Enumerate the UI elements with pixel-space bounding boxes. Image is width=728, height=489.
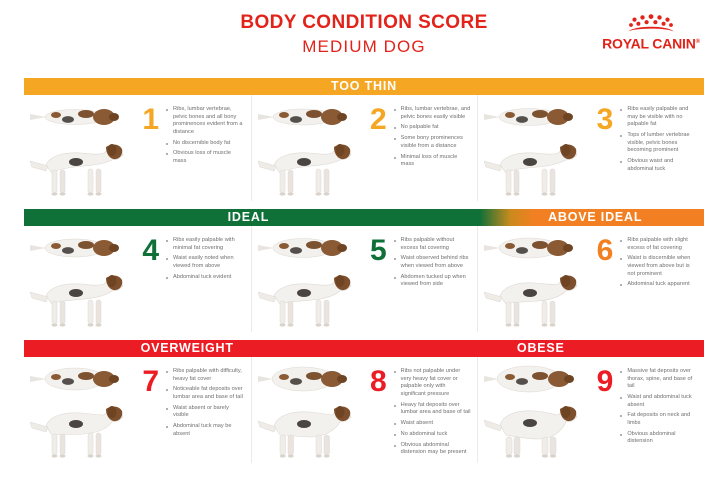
score-number-6: 6: [586, 230, 612, 332]
bullet: Obvious waist and abdominal tuck: [620, 158, 698, 173]
dog-top-view-icon: [28, 363, 128, 395]
bullet: Ribs, lumbar vertebrae, and pelvic bones…: [394, 106, 472, 121]
score-cell-4[interactable]: 4 Ribs easily palpable with minimal fat …: [24, 226, 251, 332]
spacer: [0, 332, 728, 340]
bullet: Obvious abdominal distension: [620, 431, 698, 446]
score-number-8: 8: [360, 361, 386, 463]
score-cell-8[interactable]: 8 Ribs not palpable under very heavy fat…: [251, 357, 478, 463]
poster-header: BODY CONDITION SCORE MEDIUM DOG ROYAL CA…: [0, 0, 728, 78]
dog-illustration-6: [478, 230, 586, 332]
section-bar-overweight: OVERWEIGHT OBESE: [24, 340, 704, 357]
dog-illustration-8: [252, 361, 360, 463]
body-condition-score-poster: BODY CONDITION SCORE MEDIUM DOG ROYAL CA…: [0, 0, 728, 489]
dog-illustration-4: [24, 230, 132, 332]
dog-side-view-icon: [26, 266, 130, 332]
score-cell-9[interactable]: 9 Massive fat deposits over thorax, spin…: [477, 357, 704, 463]
row-ideal: 4 Ribs easily palpable with minimal fat …: [24, 226, 704, 332]
score-bullets-8: Ribs not palpable under very heavy fat c…: [386, 361, 478, 463]
dog-top-view-icon: [28, 232, 128, 264]
bullet: Obvious abdominal distension may be pres…: [394, 442, 472, 457]
bullet: No discernible body fat: [166, 140, 245, 148]
score-cell-6[interactable]: 6 Ribs palpable with slight excess of fa…: [477, 226, 704, 332]
dog-top-view-icon: [482, 363, 582, 395]
score-cell-1[interactable]: 1 Ribs, lumbar vertebrae, pelvic bones a…: [24, 95, 251, 201]
dog-illustration-5: [252, 230, 360, 332]
score-number-2: 2: [360, 99, 386, 201]
bullet: Some bony prominences visible from a dis…: [394, 135, 472, 150]
dog-top-view-icon: [256, 101, 356, 133]
dog-side-view-icon: [254, 266, 358, 332]
bullet: No palpable fat: [394, 124, 472, 132]
score-cell-3[interactable]: 3 Ribs easily palpable and may be visibl…: [477, 95, 704, 201]
dog-illustration-3: [478, 99, 586, 201]
dog-side-view-icon: [480, 135, 584, 201]
bullet: Ribs palpable without excess fat coverin…: [394, 237, 472, 252]
bullet: No abdominal tuck: [394, 431, 472, 439]
dog-side-view-icon: [480, 266, 584, 332]
dog-side-view-icon: [480, 397, 584, 463]
bullet: Minimal loss of muscle mass: [394, 154, 472, 169]
score-cell-2[interactable]: 2 Ribs, lumbar vertebrae, and pelvic bon…: [251, 95, 478, 201]
band-too-thin: TOO THIN: [24, 78, 704, 95]
bullet: Tops of lumber vertebrae visible, pelvic…: [620, 132, 698, 155]
royal-canin-logo: ROYAL CANIN®: [592, 14, 710, 52]
dog-top-view-icon: [256, 363, 356, 395]
section-label-above-ideal: ABOVE IDEAL: [486, 209, 704, 226]
score-cell-7[interactable]: 7 Ribs palpable with difficulty, heavy f…: [24, 357, 251, 463]
bullet: Ribs palpable with slight excess of fat …: [620, 237, 698, 252]
score-number-7: 7: [132, 361, 158, 463]
score-bullets-9: Massive fat deposits over thorax, spine,…: [612, 361, 704, 463]
dog-illustration-1: [24, 99, 132, 201]
dog-side-view-icon: [254, 135, 358, 201]
bullet: Massive fat deposits over thorax, spine,…: [620, 368, 698, 391]
section-label-too-thin: TOO THIN: [24, 78, 704, 95]
dog-illustration-7: [24, 361, 132, 463]
bullet: Waist and abdominal tuck absent: [620, 394, 698, 409]
score-bullets-4: Ribs easily palpable with minimal fat co…: [158, 230, 251, 332]
dog-top-view-icon: [482, 232, 582, 264]
score-bullets-7: Ribs palpable with difficulty, heavy fat…: [158, 361, 251, 463]
band-ideal: IDEAL ABOVE IDEAL: [24, 209, 704, 226]
score-bullets-3: Ribs easily palpable and may be visible …: [612, 99, 704, 201]
brand-name: ROYAL CANIN®: [592, 35, 710, 52]
brand-trademark: ®: [696, 39, 700, 45]
score-cell-5[interactable]: 5 Ribs palpable without excess fat cover…: [251, 226, 478, 332]
score-bullets-6: Ribs palpable with slight excess of fat …: [612, 230, 704, 332]
dog-top-view-icon: [256, 232, 356, 264]
bullet: Fat deposits on neck and limbs: [620, 412, 698, 427]
score-number-5: 5: [360, 230, 386, 332]
dog-side-view-icon: [26, 397, 130, 463]
bullet: Ribs not palpable under very heavy fat c…: [394, 368, 472, 398]
dog-side-view-icon: [254, 397, 358, 463]
section-label-ideal: IDEAL: [24, 209, 473, 226]
bullet: Abdominal tuck apparent: [620, 281, 698, 289]
bullet: Abdomen tucked up when viewed from side: [394, 274, 472, 289]
bullet: Waist absent or barely visible: [166, 405, 245, 420]
bullet: Waist is discernible when viewed from ab…: [620, 255, 698, 278]
score-number-1: 1: [132, 99, 158, 201]
bullet: Abdominal tuck evident: [166, 274, 245, 282]
bullet: Noticeable fat deposits over lumbar area…: [166, 386, 245, 401]
bullet: Obvious loss of muscle mass: [166, 150, 245, 165]
score-number-3: 3: [586, 99, 612, 201]
score-number-9: 9: [586, 361, 612, 463]
dog-illustration-9: [478, 361, 586, 463]
dog-top-view-icon: [28, 101, 128, 133]
score-bullets-1: Ribs, lumbar vertebrae, pelvic bones and…: [158, 99, 251, 201]
score-number-4: 4: [132, 230, 158, 332]
dog-side-view-icon: [26, 135, 130, 201]
section-bar-too-thin: TOO THIN: [24, 78, 704, 95]
bullet: Ribs easily palpable with minimal fat co…: [166, 237, 245, 252]
spacer: [0, 201, 728, 209]
bullet: Waist absent: [394, 420, 472, 428]
section-label-obese: OBESE: [378, 340, 704, 357]
section-bar-ideal: IDEAL ABOVE IDEAL: [24, 209, 704, 226]
score-bullets-5: Ribs palpable without excess fat coverin…: [386, 230, 478, 332]
bullet: Heavy fat deposits over lumbar area and …: [394, 402, 472, 417]
score-bullets-2: Ribs, lumbar vertebrae, and pelvic bones…: [386, 99, 478, 201]
dog-top-view-icon: [482, 101, 582, 133]
bullet: Ribs, lumbar vertebrae, pelvic bones and…: [166, 106, 245, 136]
bullet: Waist observed behind ribs when viewed f…: [394, 255, 472, 270]
dog-illustration-2: [252, 99, 360, 201]
bullet: Waist easily noted when viewed from abov…: [166, 255, 245, 270]
bullet: Ribs palpable with difficulty, heavy fat…: [166, 368, 245, 383]
band-overweight: OVERWEIGHT OBESE: [24, 340, 704, 357]
bullet: Abdominal tuck may be absent: [166, 423, 245, 438]
row-overweight: 7 Ribs palpable with difficulty, heavy f…: [24, 357, 704, 463]
bullet: Ribs easily palpable and may be visible …: [620, 106, 698, 129]
section-label-overweight: OVERWEIGHT: [24, 340, 350, 357]
royal-canin-crown-icon: [623, 14, 679, 34]
row-too-thin: 1 Ribs, lumbar vertebrae, pelvic bones a…: [24, 95, 704, 201]
